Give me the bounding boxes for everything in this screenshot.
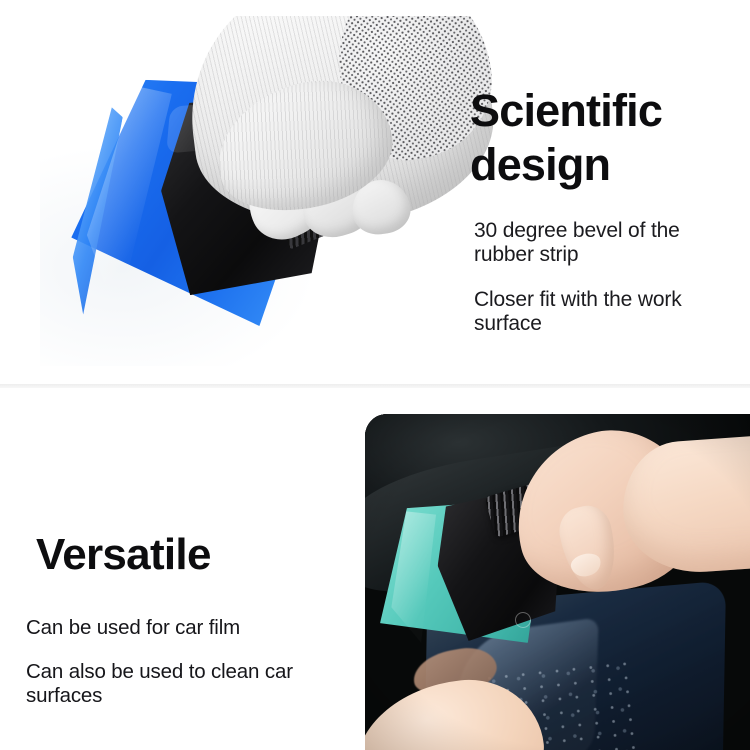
section-versatile: Versatile Can be used for car film Can a… — [0, 388, 750, 750]
teal-squeegee-photo — [365, 414, 750, 750]
blue-squeegee-photo — [40, 16, 500, 366]
scientific-design-bullet-list: 30 degree bevel of the rubber strip Clos… — [474, 219, 738, 336]
bullet-clean-surfaces: Can also be used to clean car surfaces — [26, 660, 328, 708]
bullet-closer-fit: Closer fit with the work surface — [474, 288, 738, 336]
headline-versatile: Versatile — [36, 533, 328, 577]
bullet-bevel: 30 degree bevel of the rubber strip — [474, 219, 738, 267]
scientific-design-text-block: Scientific design 30 degree bevel of the… — [470, 84, 738, 336]
headline-scientific-design: Scientific design — [470, 84, 738, 193]
versatile-bullet-list: Can be used for car film Can also be use… — [26, 616, 328, 708]
bullet-car-film: Can be used for car film — [26, 616, 328, 640]
versatile-text-block: Versatile Can be used for car film Can a… — [36, 533, 328, 708]
product-feature-page: Scientific design 30 degree bevel of the… — [0, 0, 750, 750]
section-scientific-design: Scientific design 30 degree bevel of the… — [0, 0, 750, 384]
